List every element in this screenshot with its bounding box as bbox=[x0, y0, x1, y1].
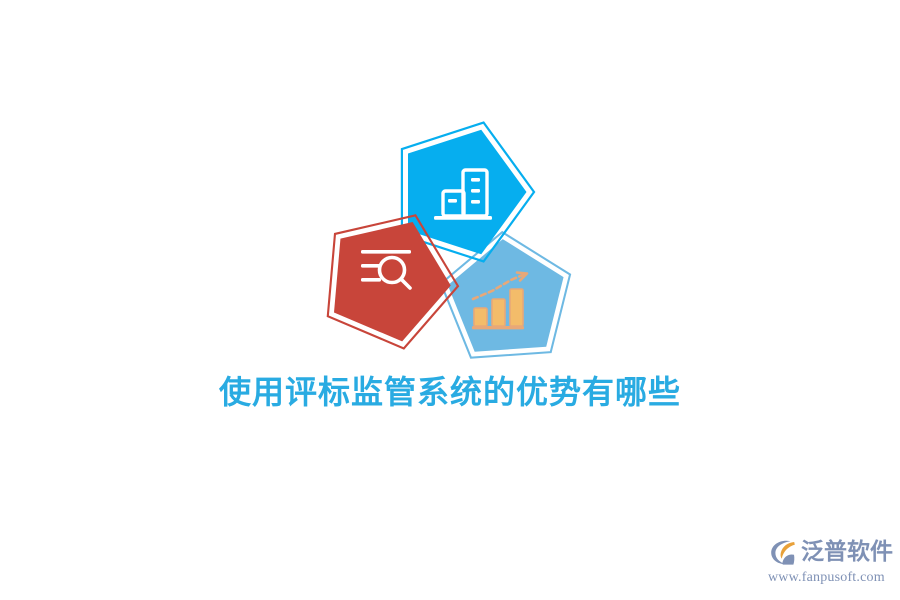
brand-watermark: 泛普软件 www.fanpusoft.com bbox=[768, 535, 894, 591]
three-pentagon-cluster bbox=[300, 115, 600, 365]
brand-name: 泛普软件 bbox=[801, 537, 893, 567]
page-title: 使用评标监管系统的优势有哪些 bbox=[0, 372, 900, 412]
page-canvas: 使用评标监管系统的优势有哪些 泛普软件 www.fanpusoft.com bbox=[0, 0, 900, 600]
fanpu-swoosh-logo-icon bbox=[768, 537, 798, 567]
brand-url: www.fanpusoft.com bbox=[768, 569, 894, 587]
brand-watermark-row: 泛普软件 bbox=[768, 535, 894, 569]
